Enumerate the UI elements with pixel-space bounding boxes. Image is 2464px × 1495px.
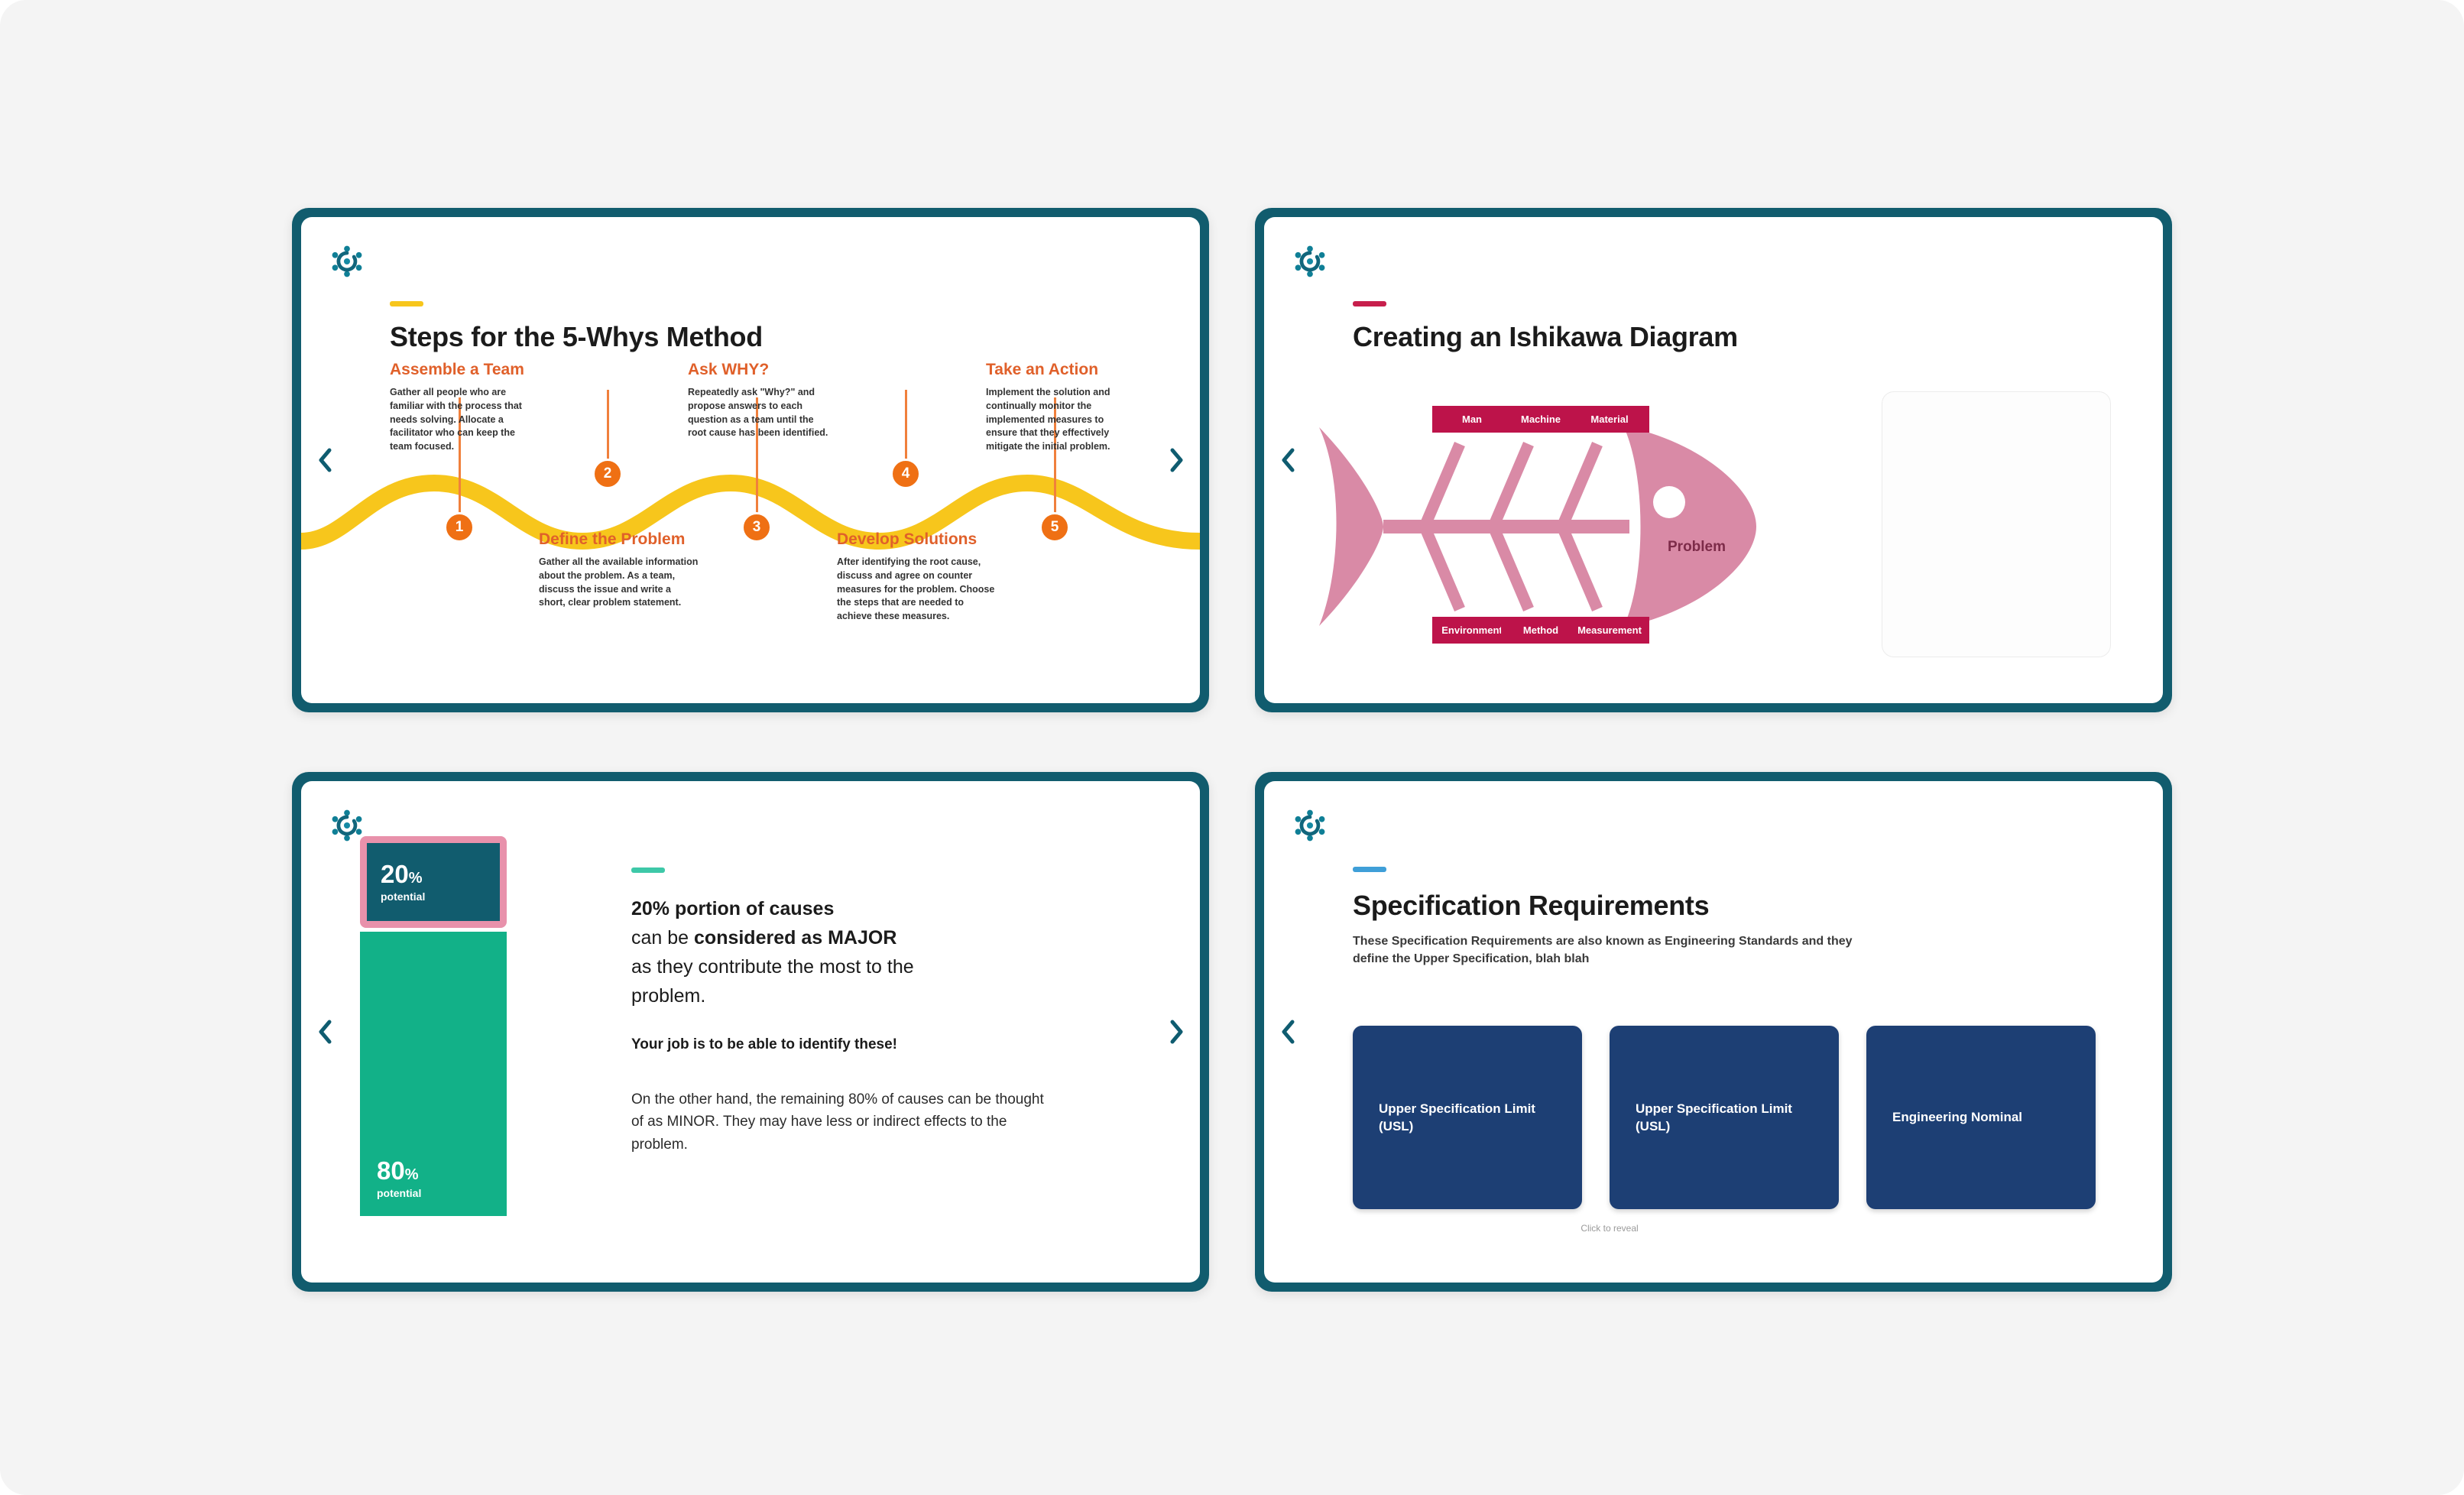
pareto-job-callout: Your job is to be able to identify these… bbox=[631, 1036, 1059, 1053]
chevron-left-icon bbox=[1278, 447, 1298, 473]
step-body: After identifying the root cause, discus… bbox=[837, 556, 997, 624]
bar-minor-symbol: % bbox=[405, 1166, 419, 1183]
prev-slide-button[interactable] bbox=[309, 1016, 341, 1048]
hex-network-logo-icon bbox=[1293, 245, 1327, 278]
bar-minor-value: 80% bbox=[377, 1158, 507, 1183]
fishbone-head-label: Problem bbox=[1668, 539, 1726, 555]
page-title: Specification Requirements bbox=[1353, 890, 1709, 922]
card-grid: Steps for the 5-Whys Method bbox=[292, 208, 2172, 1293]
step-define-the-problem: Define the Problem Gather all the availa… bbox=[539, 530, 699, 610]
bar-minor-sub: potential bbox=[377, 1187, 507, 1199]
pareto-lead-line-2a: can be bbox=[631, 927, 694, 949]
bar-major-symbol: % bbox=[409, 870, 423, 887]
step-develop-solutions: Develop Solutions After identifying the … bbox=[837, 530, 997, 624]
chevron-left-icon bbox=[315, 1019, 335, 1045]
step-heading: Assemble a Team bbox=[390, 361, 537, 379]
five-whys-timeline: 1 2 3 4 5 Assemble a Team Gather all peo… bbox=[301, 361, 1200, 689]
step-ask-why: Ask WHY? Repeatedly ask "Why?" and propo… bbox=[688, 361, 835, 440]
accent-bar bbox=[1353, 867, 1386, 872]
card-five-whys[interactable]: Steps for the 5-Whys Method bbox=[292, 208, 1209, 712]
step-assemble-a-team: Assemble a Team Gather all people who ar… bbox=[390, 361, 537, 454]
prev-slide-button[interactable] bbox=[1272, 1016, 1304, 1048]
bar-major-sub: potential bbox=[381, 890, 500, 903]
fishbone-diagram: Problem Man Machine Material Environment… bbox=[1310, 374, 1876, 679]
step-heading: Ask WHY? bbox=[688, 361, 835, 379]
next-slide-button[interactable] bbox=[1160, 1016, 1192, 1048]
pareto-lead-paragraph: 20% portion of causes can be considered … bbox=[631, 894, 1059, 1010]
step-marker-5[interactable]: 5 bbox=[1039, 512, 1070, 543]
bar-segment-major[interactable]: 20% potential bbox=[360, 836, 507, 928]
empty-drop-panel[interactable] bbox=[1882, 391, 2111, 657]
accent-bar bbox=[631, 867, 665, 873]
chevron-right-icon bbox=[1166, 1019, 1186, 1045]
card-five-whys-surface: Steps for the 5-Whys Method bbox=[301, 217, 1200, 703]
pareto-lead-line-1: 20% portion of causes bbox=[631, 898, 834, 919]
step-take-an-action: Take an Action Implement the solution an… bbox=[986, 361, 1133, 454]
bar-minor-number: 80 bbox=[377, 1156, 405, 1185]
pareto-bar-chart: 20% potential 80% potential bbox=[360, 836, 507, 1216]
hex-network-logo-icon bbox=[330, 809, 364, 842]
card-ishikawa-surface: Creating an Ishikawa Diagram bbox=[1264, 217, 2163, 703]
bone-label-material[interactable]: Material bbox=[1570, 406, 1649, 433]
bone-label-method[interactable]: Method bbox=[1501, 617, 1581, 644]
pareto-tail-paragraph: On the other hand, the remaining 80% of … bbox=[631, 1088, 1059, 1156]
card-pareto-surface: 20% potential 80% potential 20% portion … bbox=[301, 781, 1200, 1283]
spec-card-nominal[interactable]: Engineering Nominal bbox=[1866, 1026, 2096, 1209]
step-heading: Take an Action bbox=[986, 361, 1133, 379]
bone-label-man[interactable]: Man bbox=[1432, 406, 1512, 433]
spec-card-usl-1[interactable]: Upper Specification Limit (USL) bbox=[1353, 1026, 1582, 1209]
pareto-lead-line-4: problem. bbox=[631, 985, 705, 1007]
click-to-reveal-hint: Click to reveal bbox=[1353, 1223, 1866, 1234]
hex-network-logo-icon bbox=[330, 245, 364, 278]
bone-label-measurement[interactable]: Measurement bbox=[1570, 617, 1649, 644]
chevron-left-icon bbox=[1278, 1019, 1298, 1045]
card-pareto[interactable]: 20% potential 80% potential 20% portion … bbox=[292, 772, 1209, 1292]
pareto-lead-line-2b: considered as MAJOR bbox=[694, 927, 896, 949]
accent-bar bbox=[390, 301, 423, 306]
step-marker-2[interactable]: 2 bbox=[592, 459, 623, 489]
step-body: Implement the solution and continually m… bbox=[986, 386, 1133, 454]
card-spec-surface: Specification Requirements These Specifi… bbox=[1264, 781, 2163, 1283]
accent-bar bbox=[1353, 301, 1386, 306]
step-body: Gather all people who are familiar with … bbox=[390, 386, 537, 454]
page-title: Creating an Ishikawa Diagram bbox=[1353, 321, 1738, 353]
pareto-copy: 20% portion of causes can be considered … bbox=[631, 894, 1059, 1053]
step-heading: Develop Solutions bbox=[837, 530, 997, 549]
card-spec-requirements[interactable]: Specification Requirements These Specifi… bbox=[1255, 772, 2172, 1292]
pareto-lead-line-3: as they contribute the most to the bbox=[631, 956, 914, 978]
card-ishikawa[interactable]: Creating an Ishikawa Diagram bbox=[1255, 208, 2172, 712]
app-background: Steps for the 5-Whys Method bbox=[0, 0, 2464, 1495]
page-subtitle: These Specification Requirements are als… bbox=[1353, 932, 1888, 968]
bone-label-machine[interactable]: Machine bbox=[1501, 406, 1581, 433]
bar-major-number: 20 bbox=[381, 860, 409, 888]
step-marker-1[interactable]: 1 bbox=[444, 512, 475, 543]
bar-major-value: 20% bbox=[381, 861, 500, 887]
step-heading: Define the Problem bbox=[539, 530, 699, 549]
page-title: Steps for the 5-Whys Method bbox=[390, 321, 763, 353]
step-body: Gather all the available information abo… bbox=[539, 556, 699, 610]
hex-network-logo-icon bbox=[1293, 809, 1327, 842]
spec-card-usl-2[interactable]: Upper Specification Limit (USL) bbox=[1610, 1026, 1839, 1209]
step-marker-3[interactable]: 3 bbox=[741, 512, 772, 543]
bar-segment-minor[interactable]: 80% potential bbox=[360, 932, 507, 1216]
step-marker-4[interactable]: 4 bbox=[890, 459, 921, 489]
prev-slide-button[interactable] bbox=[1272, 444, 1304, 476]
spec-card-row: Upper Specification Limit (USL) Upper Sp… bbox=[1353, 1026, 2096, 1209]
bone-label-environment[interactable]: Environment bbox=[1432, 617, 1512, 644]
step-body: Repeatedly ask "Why?" and propose answer… bbox=[688, 386, 835, 440]
